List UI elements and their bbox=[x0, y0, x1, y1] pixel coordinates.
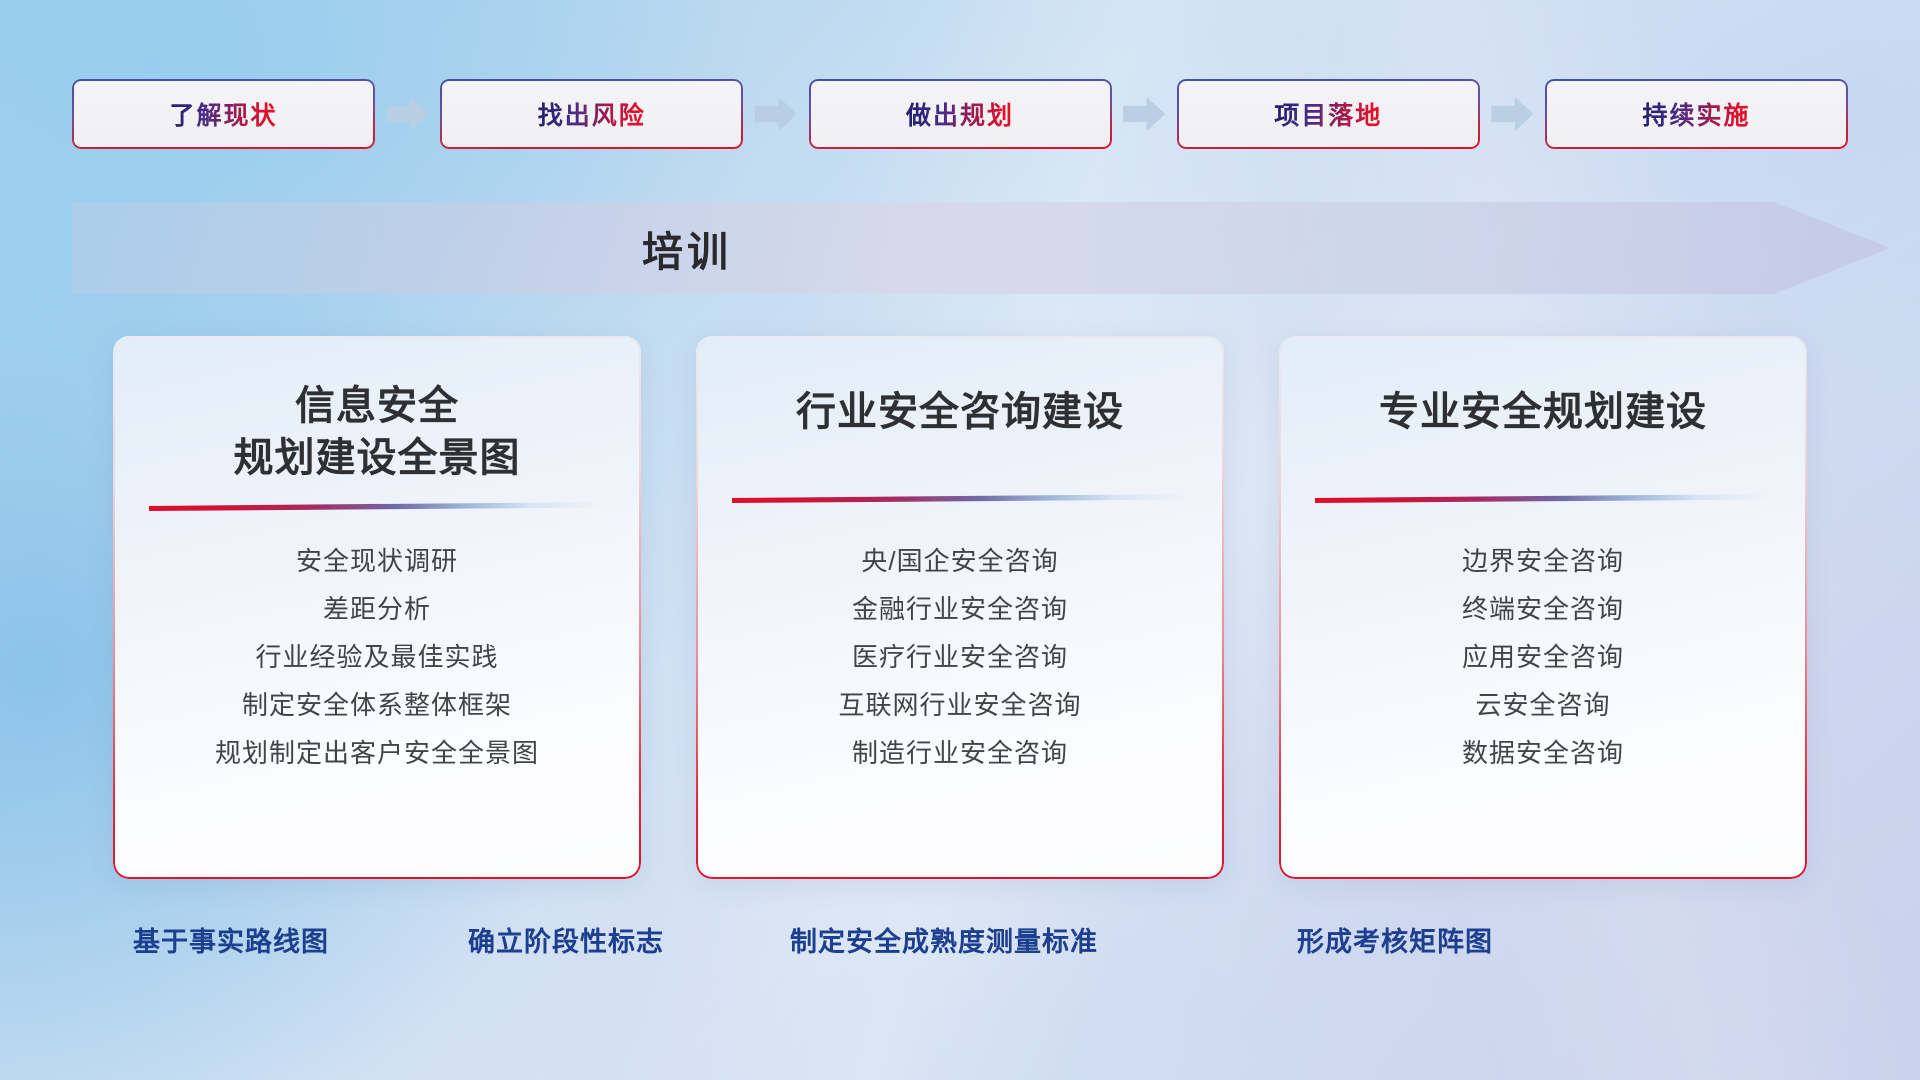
card-title: 专业安全规划建设 bbox=[1379, 386, 1707, 438]
card-list-item: 数据安全咨询 bbox=[1307, 729, 1779, 777]
training-banner: 培训 bbox=[72, 202, 1890, 294]
card-list-item: 医疗行业安全咨询 bbox=[724, 633, 1196, 681]
card-list-item: 差距分析 bbox=[141, 585, 613, 633]
caption-fact-based-roadmap: 基于事实路线图 bbox=[133, 920, 329, 959]
card-divider bbox=[732, 494, 1188, 503]
card-list-item: 应用安全咨询 bbox=[1307, 633, 1779, 681]
card-list-item: 规划制定出客户安全全景图 bbox=[141, 729, 613, 777]
card-item-list: 安全现状调研 差距分析 行业经验及最佳实践 制定安全体系整体框架 规划制定出客户… bbox=[141, 537, 613, 777]
card-list-item: 制造行业安全咨询 bbox=[724, 729, 1196, 777]
step-box-3[interactable]: 做出规划 bbox=[809, 79, 1112, 149]
process-step-flow: 了解现状 找出风险 做出规划 项目落地 持续实施 bbox=[72, 78, 1848, 150]
card-industry-security-consulting[interactable]: 行业安全咨询建设 央/国企安全咨询 金融行业安全咨询 医疗行业安全咨询 互联网行… bbox=[696, 336, 1224, 879]
step-box-5[interactable]: 持续实施 bbox=[1545, 79, 1848, 149]
card-information-security-blueprint[interactable]: 信息安全 规划建设全景图 安全现状调研 差距分析 行业经验及最佳实践 制定安全体… bbox=[113, 336, 641, 879]
training-banner-title: 培训 bbox=[642, 218, 732, 278]
card-item-list: 边界安全咨询 终端安全咨询 应用安全咨询 云安全咨询 数据安全咨询 bbox=[1307, 537, 1779, 777]
card-inner: 专业安全规划建设 边界安全咨询 终端安全咨询 应用安全咨询 云安全咨询 数据安全… bbox=[1279, 336, 1807, 879]
card-list-item: 边界安全咨询 bbox=[1307, 537, 1779, 585]
step-label-5: 持续实施 bbox=[1642, 96, 1750, 132]
caption-phase-milestones: 确立阶段性标志 bbox=[468, 920, 664, 959]
card-inner: 信息安全 规划建设全景图 安全现状调研 差距分析 行业经验及最佳实践 制定安全体… bbox=[113, 336, 641, 879]
step-label-1: 了解现状 bbox=[169, 96, 277, 132]
card-list-item: 终端安全咨询 bbox=[1307, 585, 1779, 633]
card-list-item: 金融行业安全咨询 bbox=[724, 585, 1196, 633]
card-list-item: 制定安全体系整体框架 bbox=[141, 681, 613, 729]
card-title: 行业安全咨询建设 bbox=[796, 386, 1124, 438]
step-label-4: 项目落地 bbox=[1274, 96, 1382, 132]
card-divider bbox=[149, 502, 605, 511]
card-title: 信息安全 规划建设全景图 bbox=[234, 380, 521, 484]
step-arrow-icon-1 bbox=[387, 97, 429, 131]
step-box-2[interactable]: 找出风险 bbox=[440, 79, 743, 149]
step-label-3: 做出规划 bbox=[906, 96, 1014, 132]
slide-canvas: 了解现状 找出风险 做出规划 项目落地 持续实施 培训 信息安全 规划建设全景图 bbox=[0, 0, 1920, 1080]
card-professional-security-planning[interactable]: 专业安全规划建设 边界安全咨询 终端安全咨询 应用安全咨询 云安全咨询 数据安全… bbox=[1279, 336, 1807, 879]
card-list-item: 央/国企安全咨询 bbox=[724, 537, 1196, 585]
card-row: 信息安全 规划建设全景图 安全现状调研 差距分析 行业经验及最佳实践 制定安全体… bbox=[113, 336, 1807, 879]
caption-maturity-measurement-standard: 制定安全成熟度测量标准 bbox=[790, 920, 1098, 959]
step-box-4[interactable]: 项目落地 bbox=[1177, 79, 1480, 149]
card-list-item: 安全现状调研 bbox=[141, 537, 613, 585]
step-box-1[interactable]: 了解现状 bbox=[72, 79, 375, 149]
caption-assessment-matrix: 形成考核矩阵图 bbox=[1297, 920, 1493, 959]
step-arrow-icon-4 bbox=[1491, 97, 1533, 131]
card-list-item: 互联网行业安全咨询 bbox=[724, 681, 1196, 729]
card-divider bbox=[1315, 494, 1771, 503]
step-arrow-icon-2 bbox=[755, 97, 797, 131]
card-inner: 行业安全咨询建设 央/国企安全咨询 金融行业安全咨询 医疗行业安全咨询 互联网行… bbox=[696, 336, 1224, 879]
step-arrow-icon-3 bbox=[1123, 97, 1165, 131]
card-list-item: 行业经验及最佳实践 bbox=[141, 633, 613, 681]
caption-row: 基于事实路线图 确立阶段性标志 制定安全成熟度测量标准 形成考核矩阵图 bbox=[0, 920, 1920, 970]
card-list-item: 云安全咨询 bbox=[1307, 681, 1779, 729]
card-item-list: 央/国企安全咨询 金融行业安全咨询 医疗行业安全咨询 互联网行业安全咨询 制造行… bbox=[724, 537, 1196, 777]
step-label-2: 找出风险 bbox=[538, 96, 646, 132]
